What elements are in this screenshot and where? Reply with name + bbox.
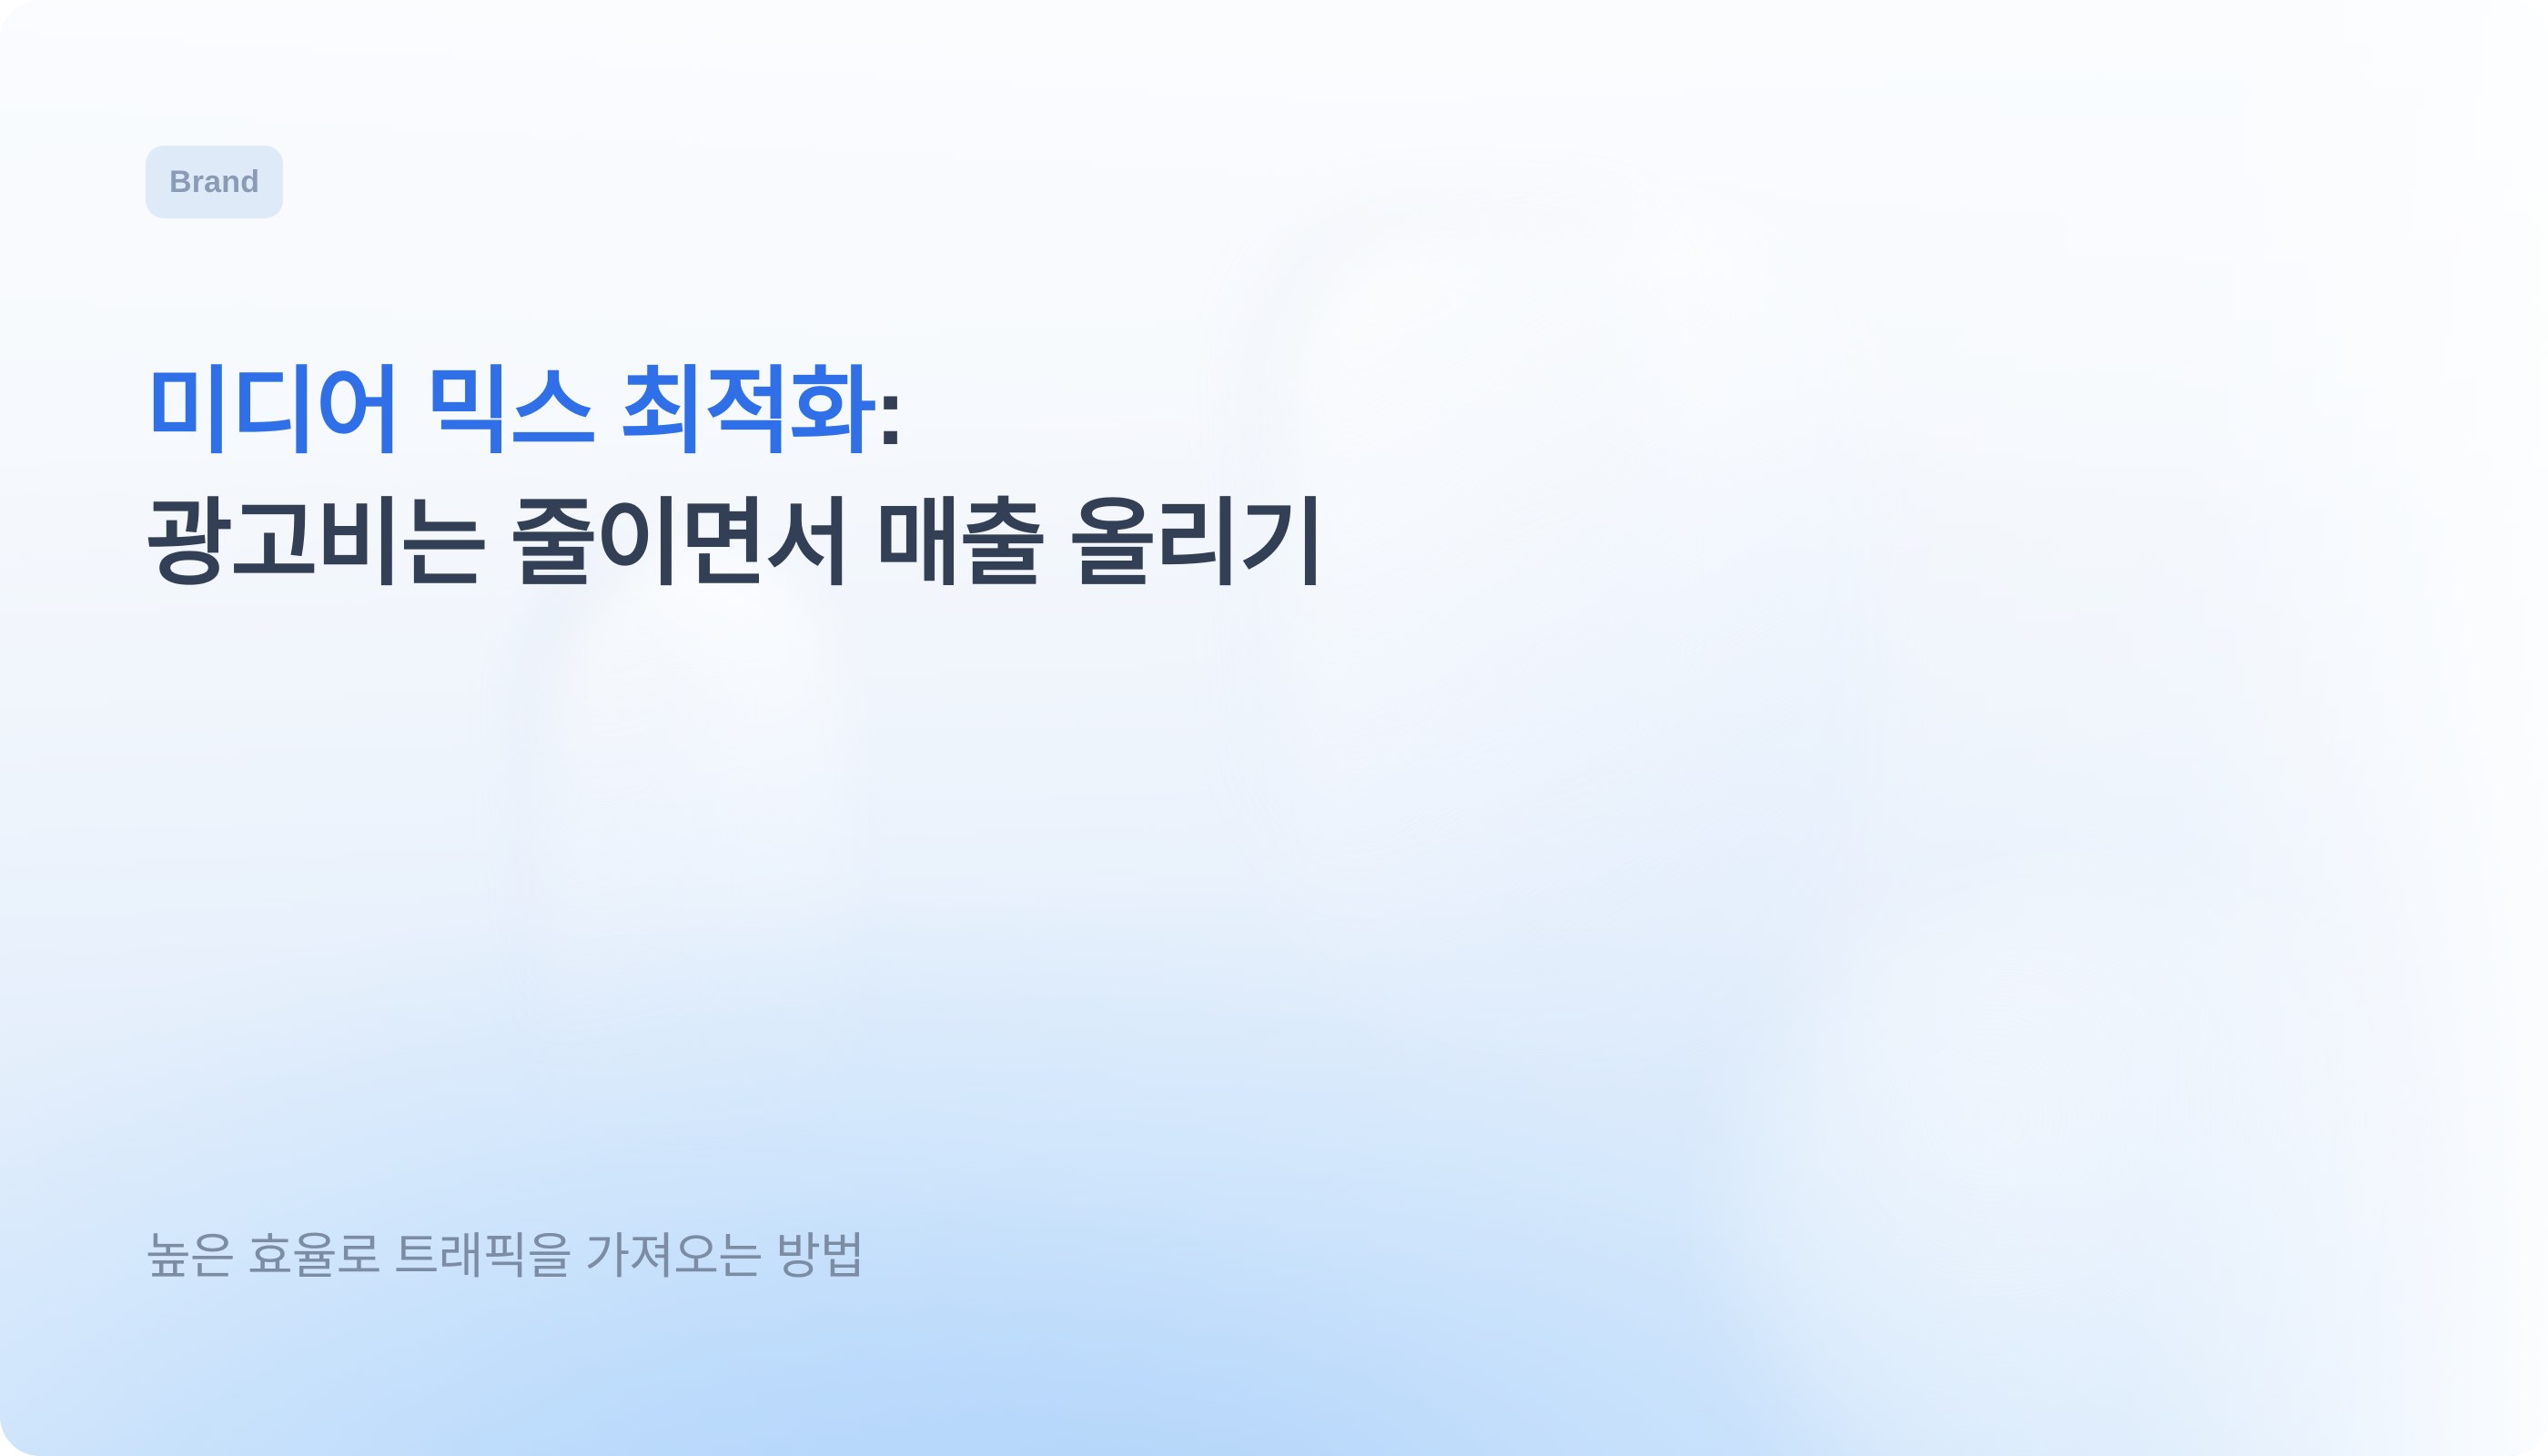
brand-badge-label: Brand: [169, 167, 259, 197]
title-line-primary-text: 미디어 믹스 최적화: [146, 359, 875, 465]
hero-content: Brand 미디어 믹스 최적화: 광고비는 줄이면서 매출 올리기 높은 효율…: [0, 0, 2548, 1456]
title-line-secondary: 광고비는 줄이면서 매출 올리기: [146, 485, 2239, 604]
subtitle: 높은 효율로 트래픽을 가져오는 방법: [146, 1225, 864, 1289]
title-line-primary: 미디어 믹스 최적화:: [146, 353, 2239, 472]
page-title: 미디어 믹스 최적화: 광고비는 줄이면서 매출 올리기: [146, 353, 2239, 604]
hero-card: Brand 미디어 믹스 최적화: 광고비는 줄이면서 매출 올리기 높은 효율…: [0, 0, 2548, 1456]
brand-badge: Brand: [146, 146, 283, 218]
title-colon: :: [875, 359, 904, 465]
